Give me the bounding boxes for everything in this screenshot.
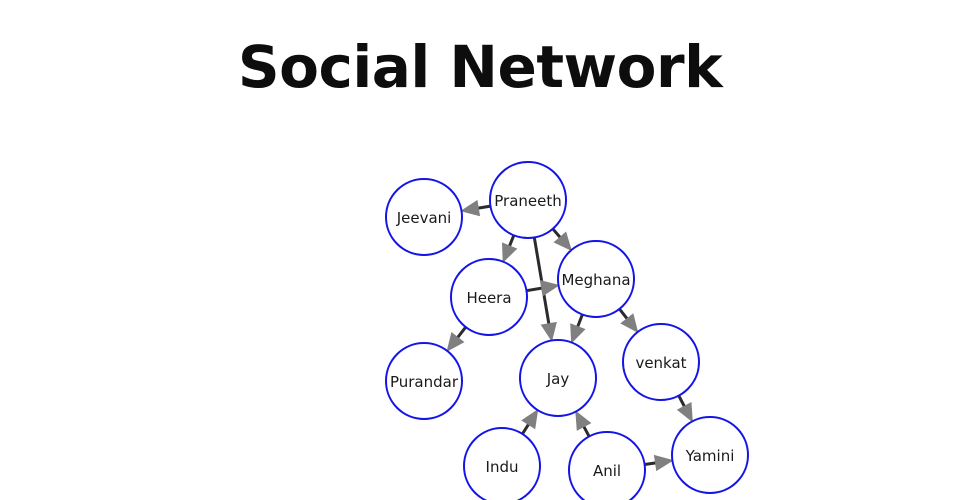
graph-edge-arrowhead — [541, 323, 556, 341]
graph-node[interactable]: Anil — [569, 432, 645, 500]
graph-node-label: Jay — [546, 370, 570, 388]
graph-node-label: Heera — [466, 289, 511, 307]
graph-edge-arrowhead — [678, 403, 693, 422]
graph-node[interactable]: venkat — [623, 324, 699, 400]
graph-edge-arrowhead — [571, 324, 585, 343]
graph-node-label: Indu — [486, 458, 519, 476]
graph-edge-arrowhead — [503, 243, 517, 262]
social-network-figure: Social Network JeevaniPraneethHeeraMegha… — [0, 0, 960, 500]
graph-node[interactable]: Yamini — [672, 417, 748, 493]
graph-node[interactable]: Jeevani — [386, 179, 462, 255]
graph-node[interactable]: Purandar — [386, 343, 462, 419]
graph-edge-arrowhead — [447, 333, 463, 351]
graph-node-label: Purandar — [390, 373, 459, 391]
network-graph: JeevaniPraneethHeeraMeghanaPurandarJayve… — [0, 0, 960, 500]
graph-edge-arrowhead — [462, 201, 480, 216]
graph-node-label: Meghana — [561, 271, 630, 289]
graph-node-label: Anil — [593, 462, 621, 480]
graph-node[interactable]: Meghana — [558, 241, 634, 317]
graph-edge-arrowhead — [522, 410, 537, 428]
graph-edge-arrowhead — [621, 314, 637, 332]
graph-node[interactable]: Jay — [520, 340, 596, 416]
graph-node-label: venkat — [635, 354, 686, 372]
graph-node[interactable]: Indu — [464, 428, 540, 500]
graph-edge-arrowhead — [576, 412, 591, 431]
graph-edge-arrowhead — [541, 281, 559, 296]
graph-node[interactable]: Praneeth — [490, 162, 566, 238]
graph-nodes-layer: JeevaniPraneethHeeraMeghanaPurandarJayve… — [386, 162, 748, 500]
graph-node-label: Praneeth — [494, 192, 562, 210]
graph-node[interactable]: Heera — [451, 259, 527, 335]
graph-node-label: Yamini — [685, 447, 735, 465]
graph-node-label: Jeevani — [396, 209, 452, 227]
graph-edge-arrowhead — [654, 456, 672, 471]
